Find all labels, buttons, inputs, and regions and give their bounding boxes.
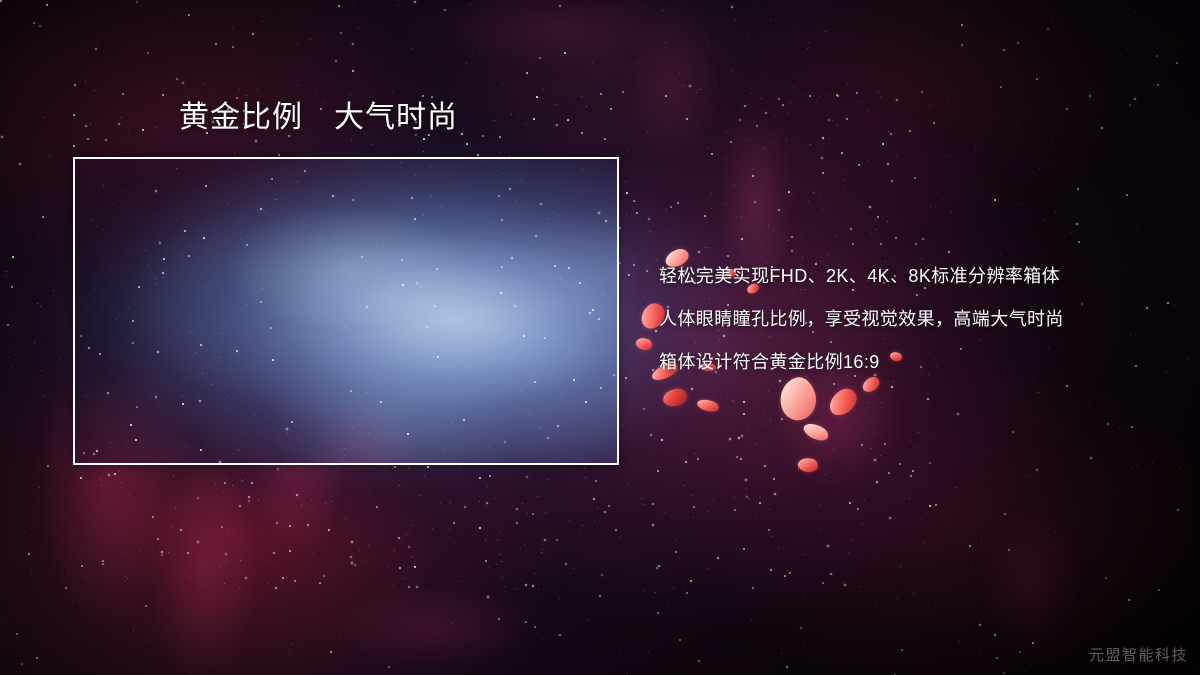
body-copy: 轻松完美实现FHD、2K、4K、8K标准分辨率箱体 人体眼睛瞳孔比例，享受视觉效… <box>659 255 1129 384</box>
watermark: 元盟智能科技 <box>1089 644 1188 665</box>
presentation-slide: 黄金比例 大气时尚 轻松完美实现FHD、2K、4K、8K标准分辨率箱体 人体眼睛… <box>0 0 1200 675</box>
body-line-1: 轻松完美实现FHD、2K、4K、8K标准分辨率箱体 <box>659 255 1129 298</box>
page-title: 黄金比例 大气时尚 <box>179 101 458 134</box>
nebula-photo-panel <box>73 157 619 465</box>
body-line-3: 箱体设计符合黄金比例16:9 <box>659 341 1129 384</box>
photo-star-field <box>75 159 617 463</box>
nebula-photo-inner <box>75 159 617 463</box>
body-line-2: 人体眼睛瞳孔比例，享受视觉效果，高端大气时尚 <box>659 298 1129 341</box>
nebula-photo-scene <box>75 159 617 463</box>
